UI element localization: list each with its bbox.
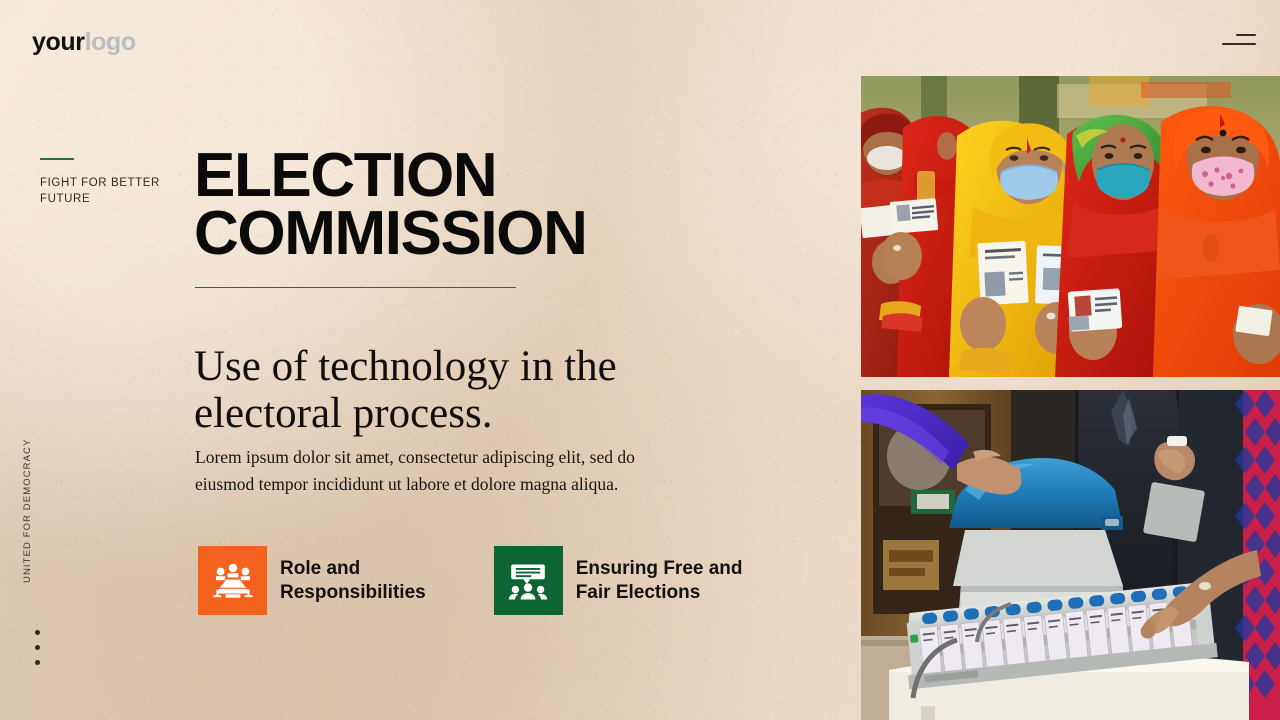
logo-primary-text: your — [32, 28, 85, 56]
voters-with-id-cards-photo — [861, 76, 1280, 377]
pagination-dots[interactable] — [35, 630, 40, 665]
feature-ensuring-free-fair-elections[interactable]: Ensuring Free and Fair Elections — [494, 546, 743, 615]
dot-2[interactable] — [35, 645, 40, 650]
slide-canvas: yourlogo FIGHT FOR BETTER FUTURE UNITED … — [0, 0, 1280, 720]
announcement-people-icon — [494, 546, 563, 615]
conference-table-icon — [198, 546, 267, 615]
page-subtitle: Use of technology in the electoral proce… — [194, 344, 739, 438]
vertical-tagline: UNITED FOR DEMOCRACY — [22, 439, 33, 583]
feature-role-and-responsibilities[interactable]: Role and Responsibilities — [198, 546, 426, 615]
title-divider — [195, 287, 516, 288]
hamburger-menu-icon[interactable] — [1220, 34, 1256, 56]
page-title: ELECTION COMMISSION — [194, 147, 814, 262]
dot-1[interactable] — [35, 630, 40, 635]
menu-bar-top — [1236, 34, 1256, 36]
feature-label: Ensuring Free and Fair Elections — [576, 557, 743, 603]
eyebrow-accent-rule — [40, 158, 74, 160]
dot-3[interactable] — [35, 660, 40, 665]
electronic-voting-machine-photo — [861, 390, 1280, 720]
body-paragraph: Lorem ipsum dolor sit amet, consectetur … — [195, 444, 640, 497]
eyebrow-text: FIGHT FOR BETTER FUTURE — [40, 175, 160, 208]
feature-list: Role and Responsibilities Ensuring Free … — [198, 546, 743, 615]
menu-bar-bottom — [1222, 43, 1256, 45]
brand-logo[interactable]: yourlogo — [32, 30, 136, 55]
feature-label: Role and Responsibilities — [280, 557, 426, 603]
logo-secondary-text: logo — [85, 28, 136, 56]
